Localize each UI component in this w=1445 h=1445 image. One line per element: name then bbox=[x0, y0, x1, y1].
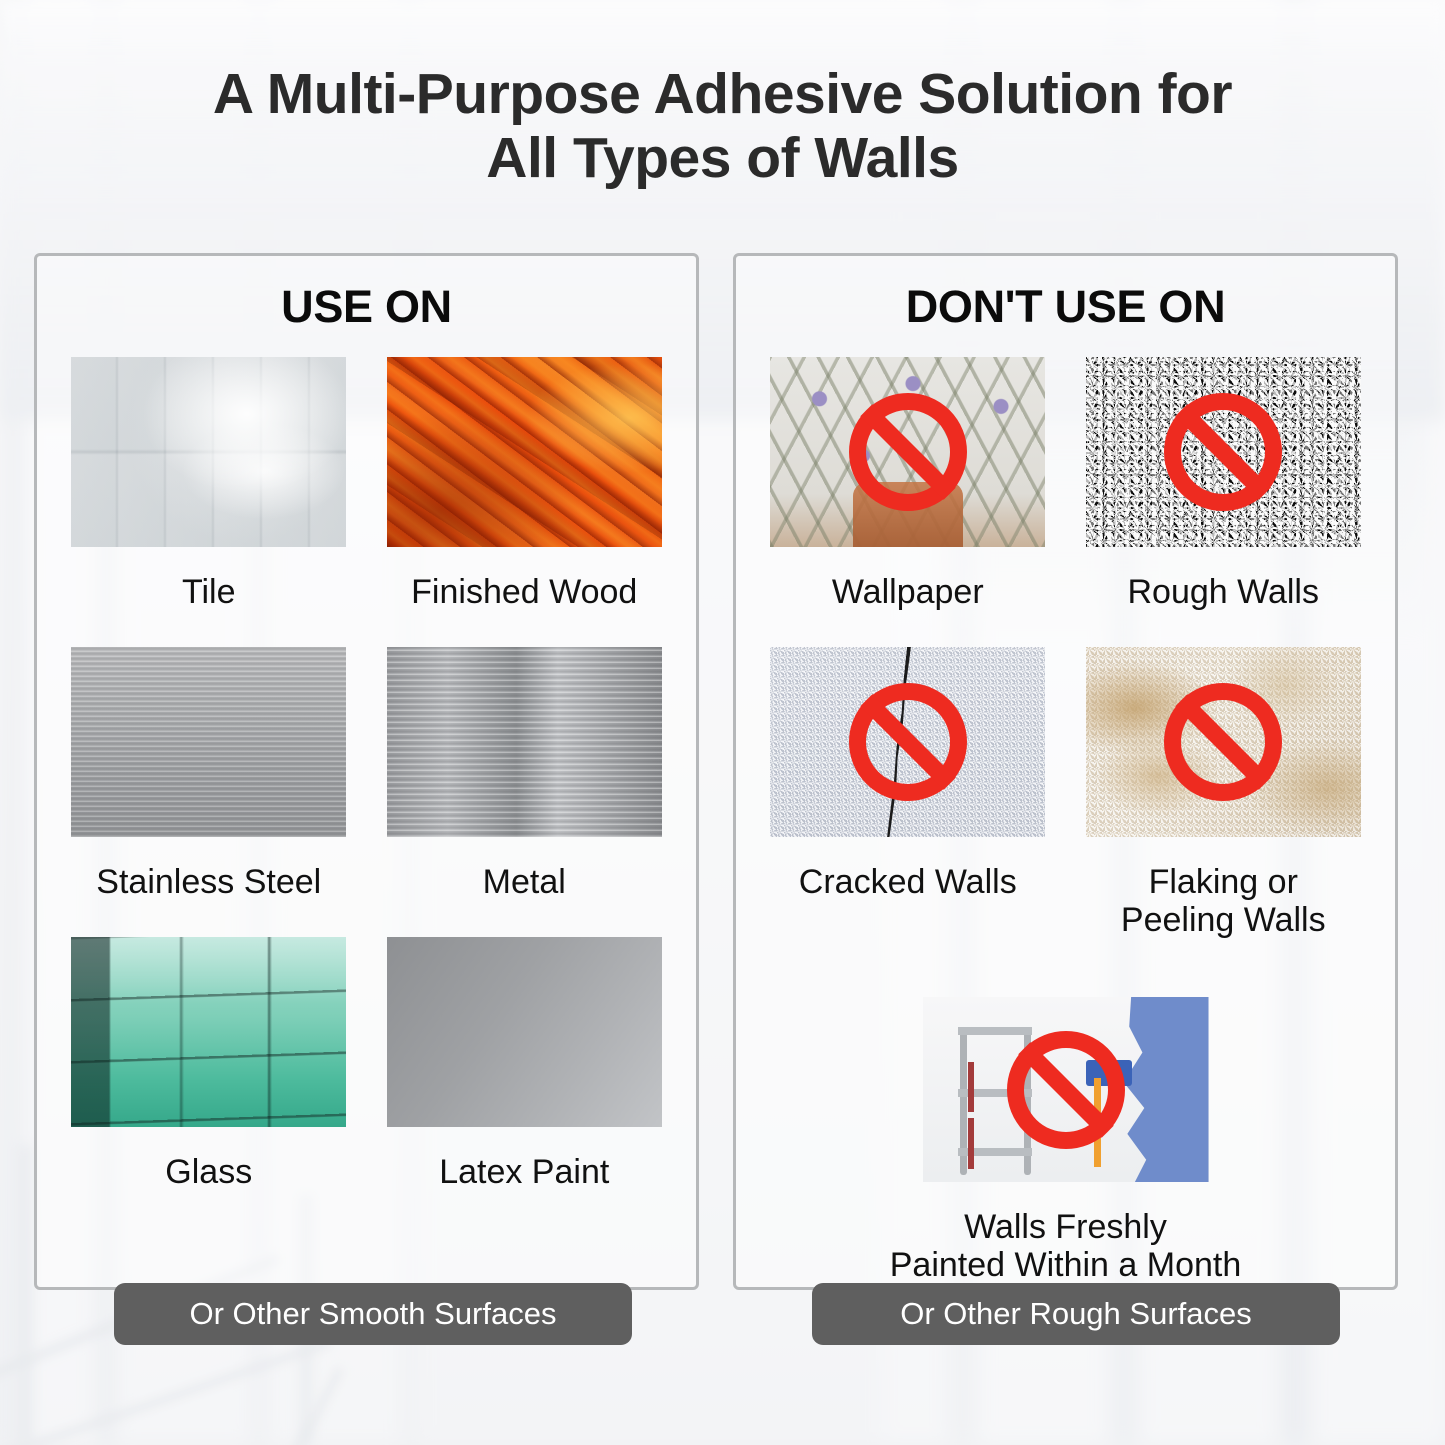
surface-thumbnail bbox=[770, 647, 1045, 837]
rough-surfaces-pill: Or Other Rough Surfaces bbox=[812, 1283, 1340, 1345]
prohibition-icon bbox=[1164, 683, 1282, 801]
surface-item: Stainless Steel bbox=[51, 647, 367, 901]
page-title: A Multi-Purpose Adhesive Solution for Al… bbox=[0, 62, 1445, 190]
prohibition-icon bbox=[1164, 393, 1282, 511]
surface-label: Rough Walls bbox=[1128, 573, 1319, 611]
row-spacer bbox=[51, 901, 682, 937]
surface-label: Metal bbox=[483, 863, 566, 901]
surface-thumbnail bbox=[387, 647, 662, 837]
surface-item: Tile bbox=[51, 357, 367, 611]
surface-label: Tile bbox=[182, 573, 236, 611]
smooth-surfaces-pill: Or Other Smooth Surfaces bbox=[114, 1283, 632, 1345]
surface-item: Metal bbox=[367, 647, 683, 901]
prohibition-icon bbox=[849, 683, 967, 801]
surface-label: Wallpaper bbox=[832, 573, 984, 611]
surface-label: Finished Wood bbox=[411, 573, 637, 611]
use-on-item-grid: TileFinished WoodStainless SteelMetalGla… bbox=[37, 357, 696, 1191]
surface-item: Walls FreshlyPainted Within a Month bbox=[750, 997, 1381, 1284]
surface-thumbnail bbox=[71, 937, 346, 1127]
infographic-canvas: A Multi-Purpose Adhesive Solution for Al… bbox=[0, 0, 1445, 1445]
surface-item: Wallpaper bbox=[750, 357, 1066, 611]
surface-label: Cracked Walls bbox=[799, 863, 1017, 901]
prohibition-icon bbox=[1007, 1031, 1125, 1149]
page-title-line-2: All Types of Walls bbox=[0, 126, 1445, 190]
surface-label: Glass bbox=[165, 1153, 252, 1191]
surface-thumbnail bbox=[387, 937, 662, 1127]
blue-paint-patch bbox=[1114, 997, 1208, 1182]
surface-item: Rough Walls bbox=[1066, 357, 1382, 611]
surface-thumbnail bbox=[1086, 647, 1361, 837]
surface-label: Stainless Steel bbox=[96, 863, 321, 901]
row-spacer bbox=[750, 975, 1381, 997]
dont-use-on-item-grid: WallpaperRough WallsCracked WallsFlaking… bbox=[736, 357, 1395, 1284]
surface-thumbnail bbox=[1086, 357, 1361, 547]
use-on-heading: USE ON bbox=[37, 281, 696, 333]
page-title-line-1: A Multi-Purpose Adhesive Solution for bbox=[0, 62, 1445, 126]
surface-item: Flaking orPeeling Walls bbox=[1066, 647, 1382, 939]
surface-label: Flaking orPeeling Walls bbox=[1121, 863, 1326, 939]
row-spacer bbox=[51, 611, 682, 647]
row-spacer bbox=[750, 611, 1381, 647]
row-spacer bbox=[750, 939, 1381, 975]
surface-item: Finished Wood bbox=[367, 357, 683, 611]
surface-thumbnail bbox=[71, 357, 346, 547]
surface-thumbnail bbox=[71, 647, 346, 837]
surface-item: Cracked Walls bbox=[750, 647, 1066, 939]
prohibition-icon bbox=[849, 393, 967, 511]
use-on-panel: USE ON TileFinished WoodStainless SteelM… bbox=[34, 253, 699, 1290]
surface-thumbnail bbox=[387, 357, 662, 547]
dont-use-on-heading: DON'T USE ON bbox=[736, 281, 1395, 333]
dont-use-on-panel: DON'T USE ON WallpaperRough WallsCracked… bbox=[733, 253, 1398, 1290]
surface-item: Latex Paint bbox=[367, 937, 683, 1191]
surface-thumbnail bbox=[770, 357, 1045, 547]
surface-label: Walls FreshlyPainted Within a Month bbox=[890, 1208, 1242, 1284]
surface-item: Glass bbox=[51, 937, 367, 1191]
surface-thumbnail bbox=[923, 997, 1209, 1182]
surface-label: Latex Paint bbox=[439, 1153, 609, 1191]
